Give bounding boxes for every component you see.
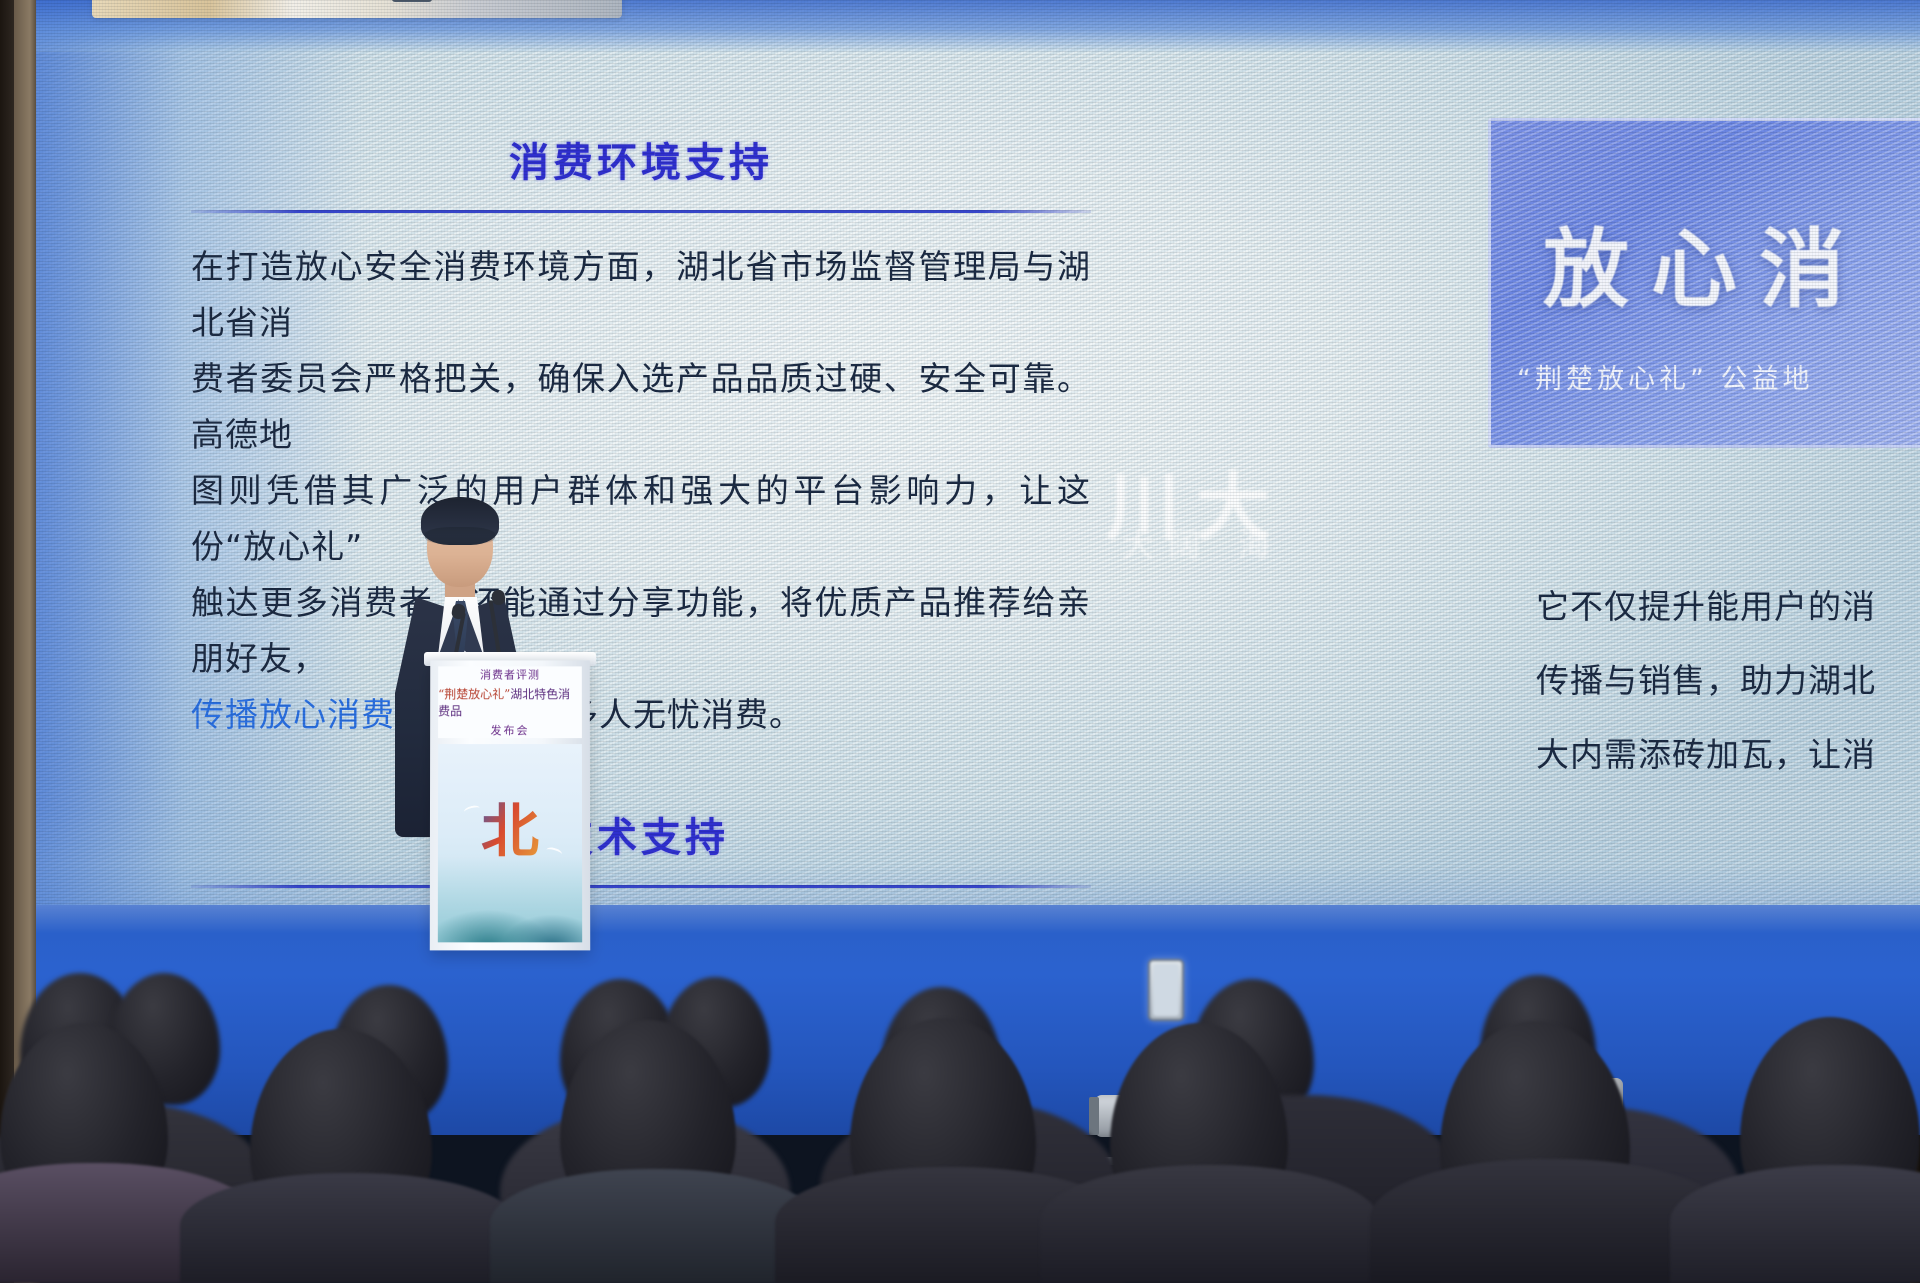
s1-line-5: 传播放心消费理念，让更多人无忧消费。 [191,687,1091,743]
s1-line-3: 图则凭借其广泛的用户群体和强大的平台影响力，让这份“放心礼” [191,463,1091,575]
audience-shoulders [1040,1165,1380,1283]
podium-art-bird-1 [463,804,480,816]
section-1-paragraph: 在打造放心安全消费环境方面，湖北省市场监督管理局与湖北省消 费者委员会严格把关，… [191,239,1091,743]
poster-card-subtitle: “荆楚放心礼” 公益地 [1517,357,1814,396]
audience-shoulders [180,1173,520,1283]
podium-sign-line-1: 消费者评测 [480,666,540,682]
podium-sign-line-2: “荆楚放心礼”湖北特色消费品 [438,685,582,719]
right-line-1: 它不仅提升能用户的消 [1536,570,1920,644]
screenshot-root: 消费环境支持 在打造放心安全消费环境方面，湖北省市场监督管理局与湖北省消 费者委… [0,0,1920,1283]
slide-right-poster-card: 放心消 “荆楚放心礼” 公益地 [1488,118,1920,448]
slide-top-photo-strip [92,0,622,18]
slide-right-paragraph: 它不仅提升能用户的消 传播与销售，助力湖北 大内需添砖加瓦，让消 [1536,570,1920,792]
podium-sign: 消费者评测 “荆楚放心礼”湖北特色消费品 发布会 [438,666,582,738]
s1-line-1: 在打造放心安全消费环境方面，湖北省市场监督管理局与湖北省消 [191,239,1091,351]
section-divider-1 [191,210,1091,213]
audience-shoulders [490,1169,820,1283]
podium-sign-brand: 荆楚放心礼 [444,687,504,701]
speaker-hair [421,497,499,545]
audience-phone [1148,959,1184,1021]
s1-line-2: 费者委员会严格把关，确保入选产品品质过硬、安全可靠。高德地 [191,351,1091,463]
audience-area [0,853,1920,1283]
slide-watermark-calligraphy-line2: 大阔 海 [1122,520,1284,566]
right-line-2: 传播与销售，助力湖北 [1536,644,1920,718]
podium-sign-line-3: 发布会 [491,722,530,738]
photo-blob-dark [392,0,432,2]
right-line-3: 大内需添砖加瓦，让消 [1536,718,1920,792]
section-title-consumption-environment: 消费环境支持 [191,130,1091,188]
phone-screen [1153,964,1179,1016]
poster-card-calligraphy: 放心消 [1543,199,1867,324]
slide-left-column: 消费环境支持 在打造放心安全消费环境方面，湖北省市场监督管理局与湖北省消 费者委… [191,130,1091,955]
s1-line-4: 触达更多消费者。还能通过分享功能，将优质产品推荐给亲朋好友， [191,575,1091,687]
led-backdrop-screen: 消费环境支持 在打造放心安全消费环境方面，湖北省市场监督管理局与湖北省消 费者委… [36,0,1920,955]
